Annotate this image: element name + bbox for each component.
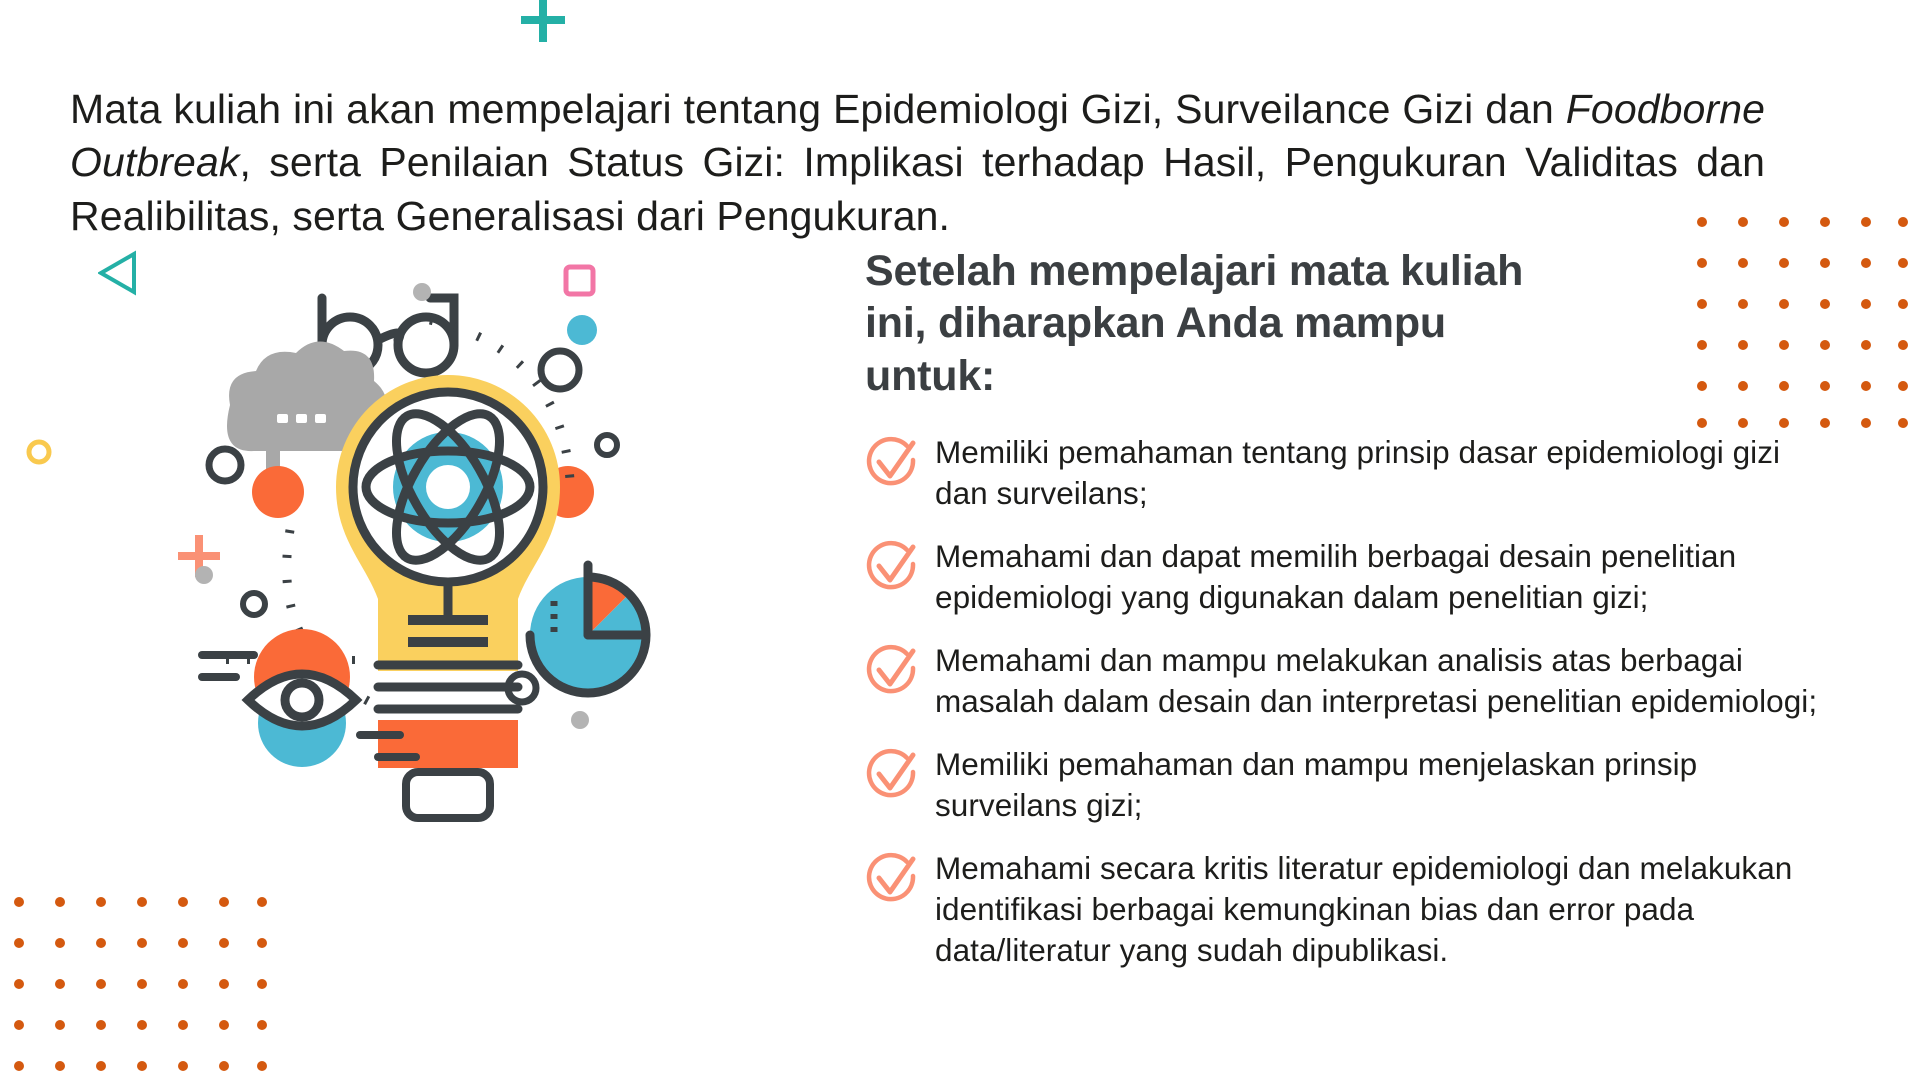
orange-dot-left <box>252 466 304 518</box>
list-item: Memiliki pemahaman tentang prinsip dasar… <box>865 432 1865 514</box>
list-item: Memahami dan mampu melakukan analisis at… <box>865 640 1865 722</box>
objectives-panel: Setelah mempelajari mata kuliah ini, dih… <box>865 245 1865 993</box>
list-item-text: Memiliki pemahaman dan mampu menjelaskan… <box>935 744 1840 826</box>
list-item-text: Memiliki pemahaman tentang prinsip dasar… <box>935 432 1840 514</box>
check-circle-icon <box>865 436 917 488</box>
outline-circle-4 <box>597 435 617 455</box>
list-item: Memahami dan dapat memilih berbagai desa… <box>865 536 1865 618</box>
dot-grid-bottom-left <box>12 895 272 1085</box>
outline-circle-3 <box>541 351 579 389</box>
list-item: Memahami secara kritis literatur epidemi… <box>865 848 1865 971</box>
pie-chart-icon <box>530 565 646 693</box>
outline-circle-2 <box>243 593 265 615</box>
list-item: Memiliki pemahaman dan mampu menjelaskan… <box>865 744 1865 826</box>
slide-root: Mata kuliah ini akan mempelajari tentang… <box>0 0 1920 1080</box>
check-circle-icon <box>865 540 917 592</box>
list-item-text: Memahami secara kritis literatur epidemi… <box>935 848 1840 971</box>
check-circle-icon <box>865 644 917 696</box>
list-item-text: Memahami dan dapat memilih berbagai desa… <box>935 536 1840 618</box>
intro-part-1: Mata kuliah ini akan mempelajari tentang… <box>70 86 1566 132</box>
grey-dot-2 <box>195 566 213 584</box>
lightbulb-idea-illustration <box>130 200 710 860</box>
grey-dot-1 <box>413 283 431 301</box>
ring-yellow-icon <box>24 437 54 467</box>
objectives-list: Memiliki pemahaman tentang prinsip dasar… <box>865 432 1865 970</box>
check-circle-icon <box>865 852 917 904</box>
plus-teal-icon <box>521 0 565 42</box>
grey-dot-3 <box>571 711 589 729</box>
outline-circle-1 <box>209 449 241 481</box>
check-circle-icon <box>865 748 917 800</box>
objectives-heading: Setelah mempelajari mata kuliah ini, dih… <box>865 245 1585 402</box>
teal-dot <box>567 315 597 345</box>
list-item-text: Memahami dan mampu melakukan analisis at… <box>935 640 1840 722</box>
